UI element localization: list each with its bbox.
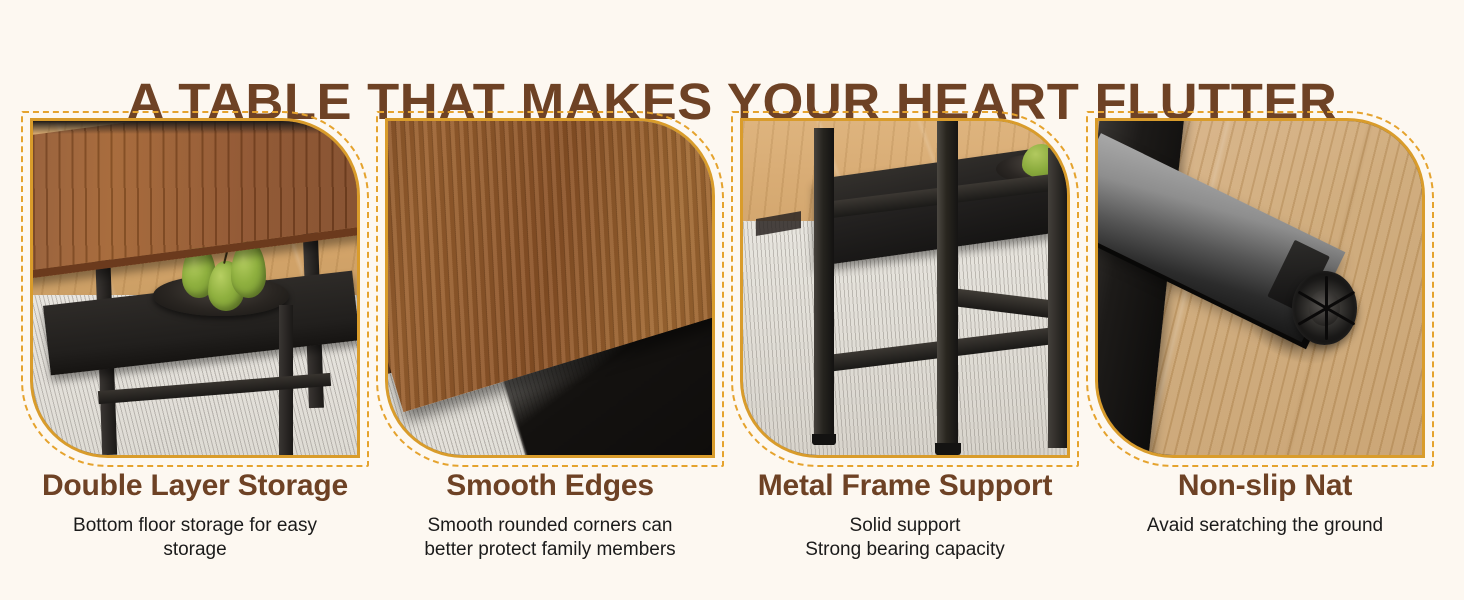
feature-photo-double-layer-storage (33, 121, 357, 455)
photo-frame (1095, 118, 1425, 458)
feature-description: Solid support Strong bearing capacity (730, 514, 1080, 563)
feature-description-line: storage (20, 538, 370, 562)
feature-description-line: better protect family members (375, 538, 725, 562)
feature-caption-non-slip-nat: Non-slip Nat Avaid seratching the ground (1090, 470, 1440, 538)
feature-photo-non-slip-nat (1098, 121, 1422, 455)
table-leg-center (937, 121, 958, 455)
feature-panel-smooth-edges (385, 118, 715, 458)
feature-heading: Double Layer Storage (20, 470, 370, 502)
feature-image-row (0, 118, 1464, 463)
feature-panel-double-layer-storage (30, 118, 360, 458)
feature-photo-smooth-edges (388, 121, 712, 455)
top-edge-shadow (33, 121, 357, 134)
feature-panel-non-slip-nat (1095, 118, 1425, 458)
feature-heading: Non-slip Nat (1090, 470, 1440, 502)
feature-panel-metal-frame-support (740, 118, 1070, 458)
feature-caption-metal-frame-support: Metal Frame Support Solid support Strong… (730, 470, 1080, 562)
infographic-page: A TABLE THAT MAKES YOUR HEART FLUTTER (0, 0, 1464, 600)
feature-description: Bottom floor storage for easy storage (20, 514, 370, 563)
feature-description-line: Avaid seratching the ground (1090, 514, 1440, 538)
feature-description-line: Bottom floor storage for easy (20, 514, 370, 538)
feature-description-line: Strong bearing capacity (730, 538, 1080, 562)
feature-heading: Smooth Edges (375, 470, 725, 502)
feature-description-line: Solid support (730, 514, 1080, 538)
feature-photo-metal-frame-support (743, 121, 1067, 455)
photo-frame (385, 118, 715, 458)
table-leg-left (814, 128, 833, 445)
photo-frame (740, 118, 1070, 458)
feature-caption-double-layer-storage: Double Layer Storage Bottom floor storag… (20, 470, 370, 562)
feature-caption-smooth-edges: Smooth Edges Smooth rounded corners can … (375, 470, 725, 562)
feature-caption-row: Double Layer Storage Bottom floor storag… (0, 470, 1464, 600)
feature-description: Smooth rounded corners can better protec… (375, 514, 725, 563)
table-leg-right (1048, 148, 1067, 449)
non-slip-foot-pad (1292, 271, 1357, 344)
photo-frame (30, 118, 360, 458)
feature-description: Avaid seratching the ground (1090, 514, 1440, 538)
feature-heading: Metal Frame Support (730, 470, 1080, 502)
feature-description-line: Smooth rounded corners can (375, 514, 725, 538)
